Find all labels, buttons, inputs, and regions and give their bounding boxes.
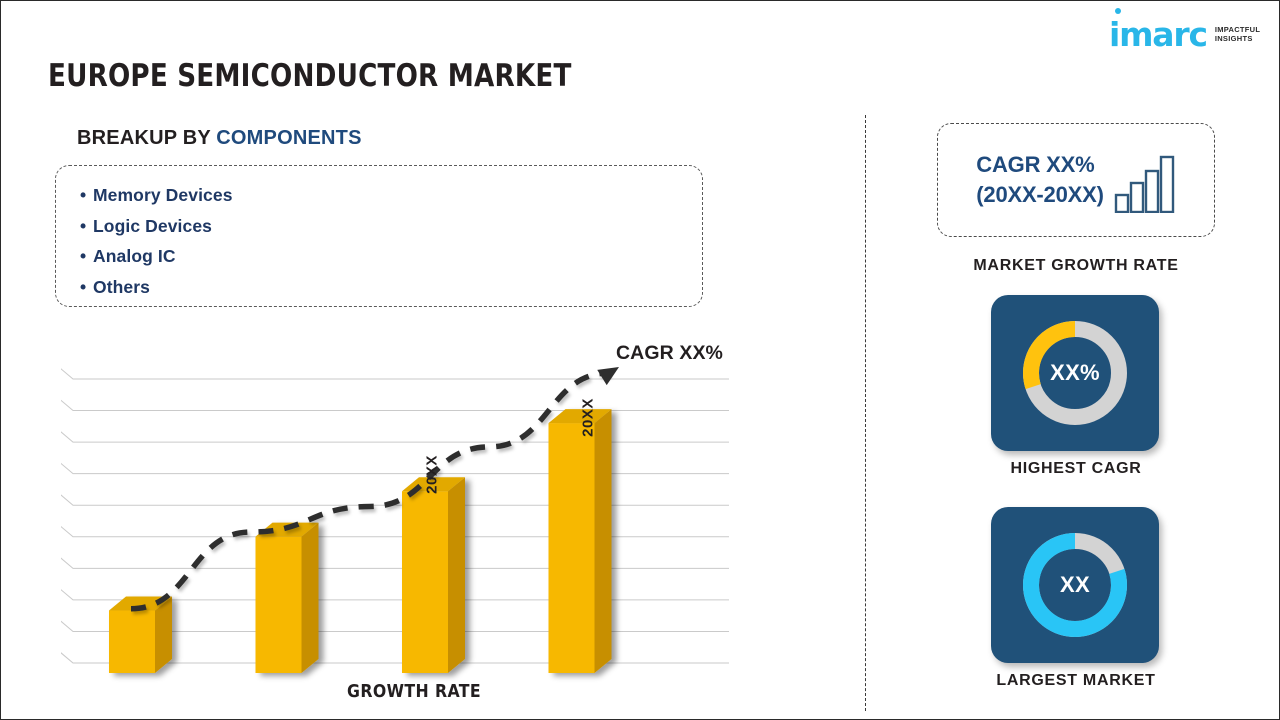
list-item-label: Logic Devices — [93, 216, 212, 236]
page-title: EUROPE SEMICONDUCTOR MARKET — [48, 58, 572, 94]
infographic-slide: imarc IMPACTFUL INSIGHTS EUROPE SEMICOND… — [0, 0, 1280, 720]
chart-canvas — [61, 331, 761, 711]
cagr-line-2: (20XX-20XX) — [976, 180, 1103, 210]
components-list-box: •Memory Devices •Logic Devices •Analog I… — [55, 165, 703, 307]
list-item-label: Others — [93, 277, 150, 297]
logo-wordmark-text: imarc — [1109, 15, 1207, 54]
growth-rate-bar-chart: CAGR XX% — [61, 331, 761, 711]
chart-cagr-annotation: CAGR XX% — [616, 342, 723, 365]
breakup-highlight: COMPONENTS — [216, 127, 361, 149]
list-item-label: Memory Devices — [93, 185, 233, 205]
bar-chart-icon — [1114, 151, 1176, 213]
bar-label-4: 20XX — [580, 391, 597, 445]
bar-label-3: 20XX — [424, 448, 441, 502]
logo-wordmark: imarc — [1109, 18, 1207, 51]
bullet-icon: • — [80, 272, 93, 303]
largest-market-caption: LARGEST MARKET — [937, 672, 1215, 690]
chart-x-axis-label: GROWTH RATE — [347, 682, 481, 702]
bullet-icon: • — [80, 180, 93, 211]
highest-cagr-card: XX% — [991, 295, 1159, 451]
list-item: •Memory Devices — [80, 180, 702, 211]
market-growth-rate-box: CAGR XX% (20XX-20XX) — [937, 123, 1215, 237]
bullet-icon: • — [80, 241, 93, 272]
list-item: •Logic Devices — [80, 211, 702, 242]
logo-tagline-line2: INSIGHTS — [1215, 34, 1260, 44]
market-growth-rate-caption: MARKET GROWTH RATE — [937, 257, 1215, 275]
panel-divider — [865, 115, 866, 711]
list-item: •Others — [80, 272, 702, 303]
logo-dot-icon — [1115, 8, 1121, 14]
cagr-text: CAGR XX% (20XX-20XX) — [976, 150, 1103, 210]
donut-value-highest-cagr: XX% — [1016, 314, 1134, 432]
highest-cagr-caption: HIGHEST CAGR — [937, 460, 1215, 478]
logo-tagline-line1: IMPACTFUL — [1215, 25, 1260, 35]
cagr-line-1: CAGR XX% — [976, 150, 1103, 180]
donut-value-largest-market: XX — [1016, 526, 1134, 644]
donut-chart-largest-market: XX — [1016, 526, 1134, 644]
breakup-heading: BREAKUP BY COMPONENTS — [77, 127, 362, 150]
donut-chart-highest-cagr: XX% — [1016, 314, 1134, 432]
list-item-label: Analog IC — [93, 246, 176, 266]
breakup-prefix: BREAKUP BY — [77, 127, 216, 149]
largest-market-card: XX — [991, 507, 1159, 663]
chart-bars — [109, 409, 612, 673]
bullet-icon: • — [80, 211, 93, 242]
list-item: •Analog IC — [80, 241, 702, 272]
imarc-logo: imarc IMPACTFUL INSIGHTS — [1109, 13, 1259, 55]
logo-tagline: IMPACTFUL INSIGHTS — [1215, 25, 1260, 44]
